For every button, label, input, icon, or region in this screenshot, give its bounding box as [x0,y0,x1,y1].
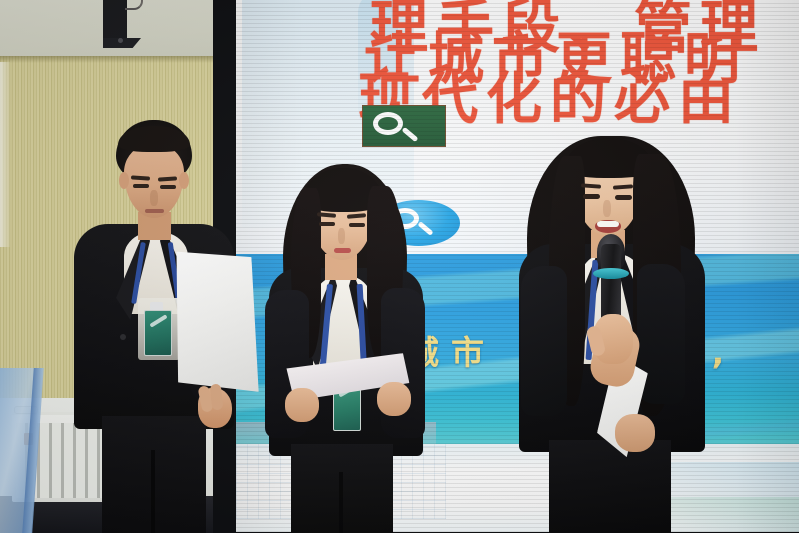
ear-right [179,172,189,189]
search-icon [373,112,403,135]
trouser-seam [339,472,343,533]
trouser-seam [151,450,155,533]
eye-right [160,185,176,189]
microphone-accent-ring [593,268,629,279]
person-center [255,160,435,533]
trousers [549,440,671,533]
arm-left [521,266,567,416]
hand-right [377,382,411,416]
ear-left [119,172,129,189]
jacket-button [120,334,126,340]
eye-left [583,194,600,199]
paper-script [165,244,266,400]
mouth [145,209,164,213]
id-badge [144,310,172,356]
face [124,144,184,218]
person-left [72,120,237,533]
slat-wall-seam [0,62,10,247]
eye-right [615,195,632,200]
mouth [334,248,351,253]
slat-wall-top-shadow [0,56,232,63]
search-icon-handle [401,127,418,142]
teeth [597,221,619,227]
hand-left [615,414,655,452]
nose [150,190,158,206]
wall-speaker-bracket-bolt [118,38,123,43]
search-icon-green-box [362,105,446,147]
person-right [505,130,720,533]
mouth [595,220,621,233]
eye-left [319,222,335,226]
eye-left [133,184,149,188]
wall-speaker-bracket [103,0,127,44]
hand-left [285,388,319,422]
hair-fringe [118,126,190,152]
nose [603,200,611,217]
presentation-scene: 理手段、管理 让城市更聪明 现代化的必由 城市 “功 定位, 规划 [0,0,799,533]
badge-highlight [149,314,167,327]
nose [338,228,345,244]
eye-right [349,223,365,227]
